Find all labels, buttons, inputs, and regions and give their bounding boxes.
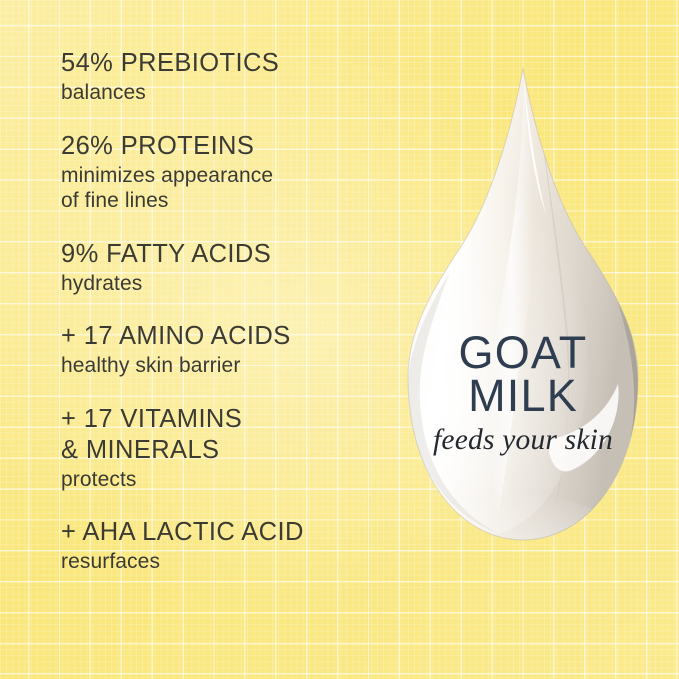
fact-heading: + 17 VITAMINS & MINERALS (61, 404, 381, 466)
fact-benefit: balances (61, 80, 381, 106)
product-infographic: 54% PREBIOTICS balances 26% PROTEINS min… (0, 0, 679, 679)
milk-droplet-icon (390, 62, 656, 554)
fact-benefit: protects (61, 467, 381, 493)
fact-heading: 26% PROTEINS (61, 131, 381, 162)
list-item: + 17 VITAMINS & MINERALS protects (61, 404, 381, 493)
fact-heading: + AHA LACTIC ACID (61, 517, 381, 548)
fact-benefit: resurfaces (61, 549, 381, 575)
fact-heading: + 17 AMINO ACIDS (61, 321, 381, 352)
fact-benefit: hydrates (61, 271, 381, 297)
list-item: 26% PROTEINS minimizes appearance of fin… (61, 131, 381, 214)
list-item: + 17 AMINO ACIDS healthy skin barrier (61, 321, 381, 379)
fact-benefit: healthy skin barrier (61, 353, 381, 379)
ingredient-fact-list: 54% PREBIOTICS balances 26% PROTEINS min… (61, 48, 381, 575)
list-item: 9% FATTY ACIDS hydrates (61, 239, 381, 297)
fact-heading: 54% PREBIOTICS (61, 48, 381, 79)
list-item: 54% PREBIOTICS balances (61, 48, 381, 106)
list-item: + AHA LACTIC ACID resurfaces (61, 517, 381, 575)
fact-benefit: minimizes appearance of fine lines (61, 163, 381, 214)
fact-heading: 9% FATTY ACIDS (61, 239, 381, 270)
